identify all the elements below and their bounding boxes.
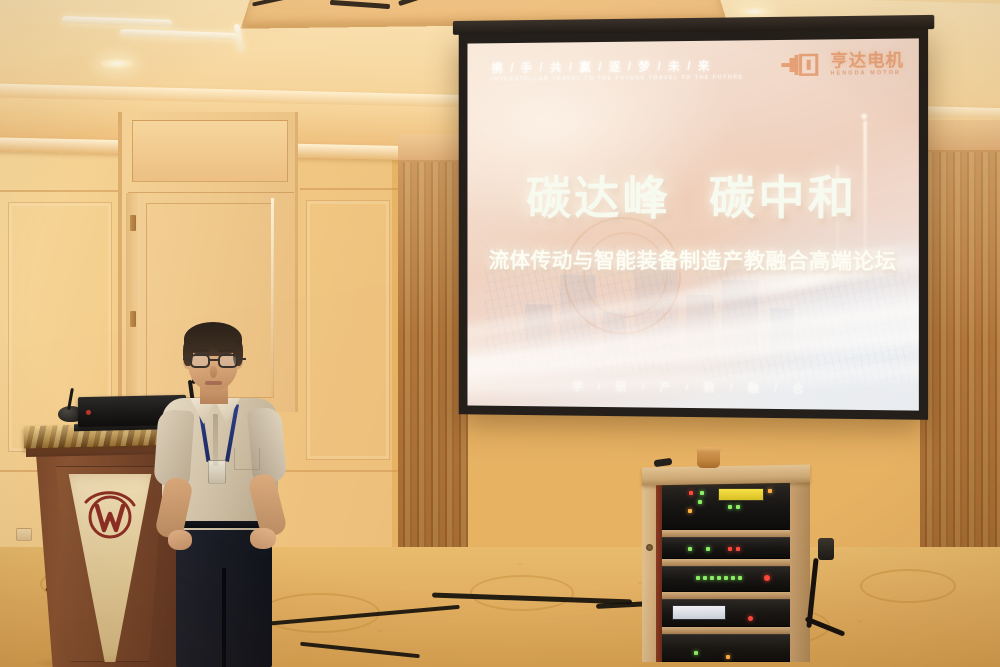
ceiling-downlight xyxy=(738,6,772,17)
brand-name-chinese: 亨达电机 xyxy=(831,52,904,70)
slide-main-title: 碳达峰碳中和 xyxy=(467,161,918,228)
paper-cup-rim xyxy=(696,447,721,453)
presenter-eyebrow-right xyxy=(218,349,235,352)
shirt-sleeve-right xyxy=(247,407,287,484)
carpet-motif xyxy=(470,575,574,611)
ceiling-downlight xyxy=(100,58,134,69)
meter-led xyxy=(717,576,721,580)
meter-led xyxy=(738,576,742,580)
wall-cap-moulding xyxy=(918,120,1000,152)
motor-logo-icon xyxy=(781,54,826,77)
rack-unit-processor[interactable] xyxy=(662,537,790,559)
status-led-green xyxy=(698,500,702,504)
presenter-belt xyxy=(178,521,270,528)
venue-w-logo-icon xyxy=(80,488,140,546)
meter-led xyxy=(731,576,735,580)
presenter-hand-left xyxy=(168,530,192,550)
meter-led xyxy=(724,576,728,580)
power-led-red xyxy=(764,575,770,581)
status-led-green xyxy=(728,505,732,509)
status-led-amber xyxy=(688,509,692,513)
status-led-red xyxy=(728,547,732,551)
projection-screen: 携 / 手 / 共 / 赢 / 逐 / 梦 / 未 / 来 INTERSTELL… xyxy=(459,29,928,420)
status-led-green xyxy=(694,651,698,655)
meter-led xyxy=(696,576,700,580)
power-adapter-plug xyxy=(818,538,834,560)
title-part-1: 碳达峰 xyxy=(526,171,671,225)
rack-equipment-bay xyxy=(662,482,790,662)
brand-text: 亨达电机 HENGDA MOTOR xyxy=(831,52,904,77)
status-led-red xyxy=(736,547,740,551)
slide-glow-dot xyxy=(860,113,867,120)
rack-unit-player[interactable] xyxy=(662,634,790,662)
door-hinge xyxy=(130,311,136,327)
presentation-slide: 携 / 手 / 共 / 赢 / 逐 / 梦 / 未 / 来 INTERSTELL… xyxy=(467,38,918,410)
presenter-eyebrow-left xyxy=(192,349,209,352)
rack-shelf xyxy=(662,592,790,599)
rack-side-panel-right xyxy=(790,480,810,662)
shirt-sleeve-left xyxy=(153,409,194,487)
status-led-green xyxy=(736,505,740,509)
amplifier-lcd-display xyxy=(718,488,764,501)
rack-shelf xyxy=(662,627,790,634)
rack-top-surface xyxy=(642,465,810,486)
av-equipment-rack xyxy=(642,466,810,662)
presenter-hand-right xyxy=(250,528,276,549)
rack-shelf xyxy=(662,559,790,566)
meter-led xyxy=(710,576,714,580)
door-hinge xyxy=(130,215,136,231)
presenter-nose xyxy=(210,366,217,378)
rack-unit-controller[interactable] xyxy=(662,599,790,627)
remote-control[interactable] xyxy=(654,458,673,467)
presenter-mouth xyxy=(205,381,222,385)
shirt-pocket xyxy=(234,448,260,470)
slide-subtitle: 流体传动与智能装备制造产教融合高端论坛 xyxy=(467,244,918,275)
rack-lock-knob[interactable] xyxy=(646,544,653,551)
wall-panel xyxy=(306,200,390,460)
status-led-red xyxy=(689,491,693,495)
status-led-amber xyxy=(768,489,772,493)
conference-room-photo: 携 / 手 / 共 / 赢 / 逐 / 梦 / 未 / 来 INTERSTELL… xyxy=(0,0,1000,667)
wall-moulding xyxy=(0,190,120,192)
title-part-2: 碳中和 xyxy=(709,171,857,226)
rack-unit-amplifier[interactable] xyxy=(662,482,790,530)
door-transom-panel xyxy=(132,120,288,182)
rack-unit-equalizer[interactable] xyxy=(662,566,790,592)
presenter-speaker xyxy=(150,318,300,667)
status-led-green xyxy=(706,547,710,551)
eyeglasses-bridge xyxy=(210,359,218,361)
laptop-indicator-light xyxy=(86,410,91,415)
eyeglasses-temple-left xyxy=(183,358,191,360)
carpet-motif xyxy=(860,569,956,603)
rack-shelf xyxy=(662,530,790,537)
eyeglasses-lens-left xyxy=(190,354,210,368)
brand-name-english: HENGDA MOTOR xyxy=(831,71,904,77)
status-led-red xyxy=(748,616,753,621)
controller-lcd-display xyxy=(672,605,726,620)
wall-cap-moulding xyxy=(398,134,468,162)
status-led-amber xyxy=(726,655,730,659)
status-led-green xyxy=(688,547,692,551)
slide-tagline-chinese: 携 / 手 / 共 / 赢 / 逐 / 梦 / 未 / 来 xyxy=(492,57,712,75)
eyeglasses-lens-right xyxy=(218,354,238,368)
sponsor-brand-logo: 亨达电机 HENGDA MOTOR xyxy=(781,52,904,78)
meter-led xyxy=(703,576,707,580)
status-led-green xyxy=(700,491,704,495)
shirt-placket xyxy=(213,414,218,466)
trouser-leg-seam xyxy=(222,568,226,667)
eyeglasses-temple-right xyxy=(238,358,246,360)
wall-moulding xyxy=(300,188,398,190)
